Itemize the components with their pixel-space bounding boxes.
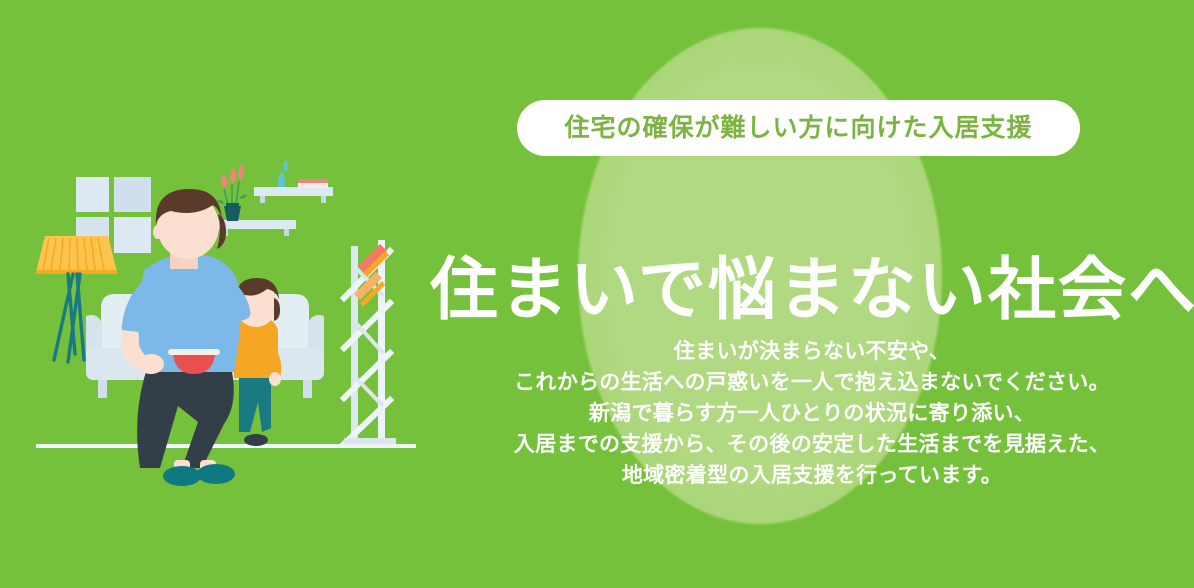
lede-line: 新潟で暮らす方一人ひとりの状況に寄り添い、 bbox=[430, 398, 1194, 429]
bottle bbox=[278, 161, 288, 187]
lede-line: 入居までの支援から、その後の安定した生活までを見据えた、 bbox=[430, 429, 1194, 460]
ladder-shelf bbox=[344, 240, 396, 448]
page-title: 住まいで悩まない社会へ bbox=[430, 251, 1194, 329]
tagline-badge-text: 住宅の確保が難しい方に向けた入居支援 bbox=[564, 116, 1032, 141]
flower-vase bbox=[217, 164, 247, 221]
wall-shelf-upper bbox=[254, 187, 333, 203]
tagline-badge: 住宅の確保が難しい方に向けた入居支援 bbox=[517, 100, 1080, 156]
family-illustration bbox=[18, 148, 424, 508]
floor-line bbox=[36, 444, 416, 448]
lede-line: 住まいが決まらない不安や、 bbox=[430, 336, 1194, 367]
wall-shelf-lower bbox=[217, 220, 296, 236]
lede-line: 地域密着型の入居支援を行っています。 bbox=[430, 460, 1194, 491]
lede-line: これからの生活への戸惑いを一人で抱え込まないでください。 bbox=[430, 367, 1194, 398]
hero-banner: 住宅の確保が難しい方に向けた入居支援 住まいで悩まない社会へ 住まいが決まらない… bbox=[0, 0, 1194, 588]
copy-column: 住宅の確保が難しい方に向けた入居支援 住まいで悩まない社会へ 住まいが決まらない… bbox=[430, 0, 1194, 588]
books bbox=[298, 179, 328, 187]
lede-paragraph: 住まいが決まらない不安や、 これからの生活への戸惑いを一人で抱え込まないでくださ… bbox=[430, 336, 1194, 491]
